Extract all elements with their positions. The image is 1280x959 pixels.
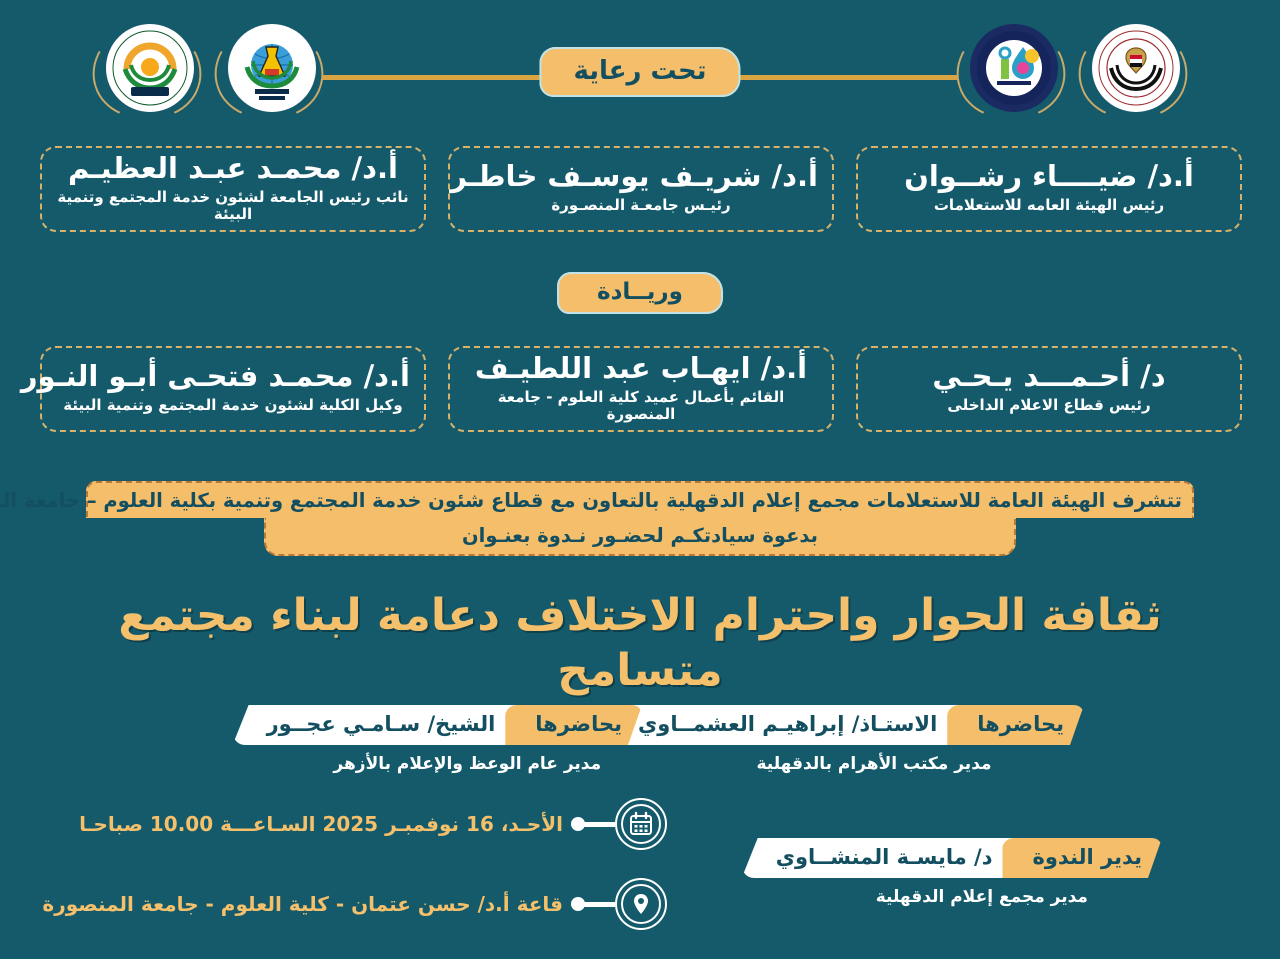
speaker-name: الشيخ/ سـامـي عجــور [233,705,522,745]
event-place: قاعة أ.د/ حسن عتمان - كلية العلوم - جامع… [42,892,563,916]
location-pin-icon [615,878,667,930]
speaker-name: الاستـاذ/ إبراهيـم العشمــاوي [604,705,963,745]
event-date: الأحـد، 16 نوفمبـر 2025 السـاعـــة 10.00… [79,812,563,836]
speaker-label: يحاضرها [947,705,1084,745]
patron-name: أ.د/ محمـد عبـد العظيـم [56,153,410,185]
calendar-icon [615,798,667,850]
description-line-1: تتشرف الهيئة العامة للاستعلامات مجمع إعل… [86,481,1194,518]
patron-card: د/ أحـمـــد يـحـي رئيس قطاع الاعلام الدا… [856,346,1242,432]
patron-role: القائم بأعمال عميد كلية العلوم - جامعة ا… [464,389,818,424]
patron-name: أ.د/ ضيــــاء رشــوان [872,161,1226,193]
speaker-subtitle: مدير مكتب الأهرام بالدقهلية [604,754,1084,774]
patron-card: أ.د/ ايهـاب عبد اللطيـف القائم بأعمال عم… [448,346,834,432]
patron-card: أ.د/ شريـف يوسـف خاطـر رئيـس جامعـة المن… [448,146,834,232]
patron-role: نائب رئيس الجامعة لشئون خدمة المجتمع وتن… [56,189,410,224]
moderator-name: د/ مايسـة المنشــاوي [742,838,1019,878]
place-dot [571,897,585,911]
faculty-of-science-logo [214,22,324,118]
patron-card: أ.د/ محمـد عبـد العظيـم نائب رئيس الجامع… [40,146,426,232]
speaker-block: يحاضرها الشيخ/ سـامـي عجــور مدير عام ال… [233,705,642,774]
mansoura-university-logo [92,22,202,118]
patron-name: أ.د/ شريـف يوسـف خاطـر [464,161,818,193]
date-dot [571,817,585,831]
invitation-description: تتشرف الهيئة العامة للاستعلامات مجمع إعل… [0,481,1280,556]
state-information-service-logo [1078,22,1188,118]
event-poster: تحت رعاية [0,0,1280,959]
speaker-subtitle: مدير عام الوعظ والإعلام بالأزهر [233,754,642,774]
patron-role: وكيل الكلية لشئون خدمة المجتمع وتنمية ال… [56,397,410,414]
poster-header: تحت رعاية [0,0,1280,130]
moderator-label: يدير الندوة [1002,838,1162,878]
patron-role: رئيس الهيئة العامه للاستعلامات [872,197,1226,214]
patron-role: رئيـس جامعـة المنصـورة [464,197,818,214]
patron-name: أ.د/ ايهـاب عبد اللطيـف [464,353,818,385]
event-place-row: قاعة أ.د/ حسن عتمان - كلية العلوم - جامع… [42,878,667,930]
patron-name: د/ أحـمـــد يـحـي [872,361,1226,393]
speaker-block: يحاضرها الاستـاذ/ إبراهيـم العشمــاوي مد… [604,705,1084,774]
patron-card: أ.د/ ضيــــاء رشــوان رئيس الهيئة العامه… [856,146,1242,232]
leadership-badge: وريــادة [557,272,723,314]
speaker-label: يحاضرها [505,705,642,745]
dakahlia-media-complex-logo [956,22,1066,118]
place-connector [581,902,615,907]
patron-card: أ.د/ محمـد فتحـى أبـو النـور وكيل الكلية… [40,346,426,432]
moderator-subtitle: مدير مجمع إعلام الدقهلية [742,887,1162,907]
event-date-row: الأحـد، 16 نوفمبـر 2025 السـاعـــة 10.00… [79,798,667,850]
patron-name: أ.د/ محمـد فتحـى أبـو النـور [56,361,410,393]
moderator-block: يدير الندوة د/ مايسـة المنشــاوي مدير مج… [742,838,1162,907]
description-line-2: بدعوة سيادتكـم لحضـور نـدوة بعنـوان [264,518,1016,555]
patron-role: رئيس قطاع الاعلام الداخلى [872,397,1226,414]
date-connector [581,822,615,827]
sponsor-badge: تحت رعاية [539,47,740,97]
page-title: ثقافة الحوار واحترام الاختلاف دعامة لبنا… [0,588,1280,698]
